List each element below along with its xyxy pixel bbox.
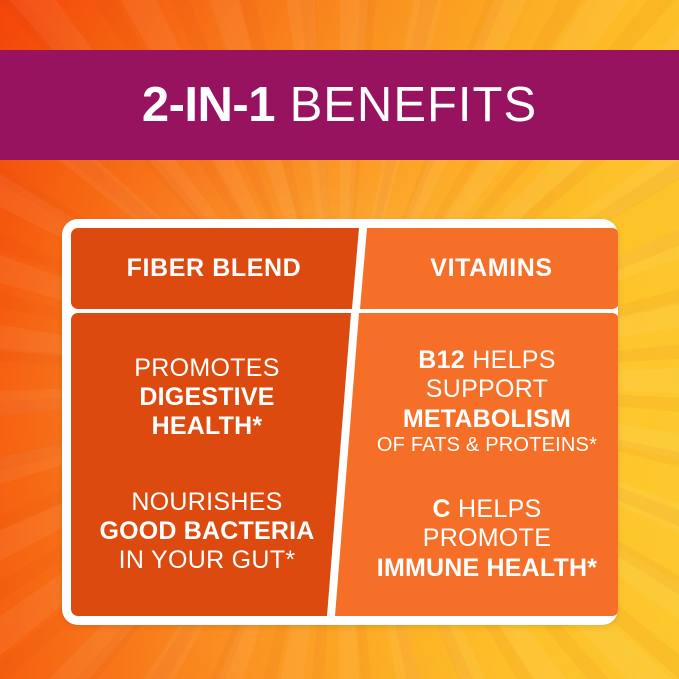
nutrient-name-b12: B12 xyxy=(418,346,465,374)
benefit-line: IN YOUR GUT* xyxy=(99,546,314,575)
benefit-line: IMMUNE HEALTH* xyxy=(377,554,597,583)
benefit-line: C HELPS xyxy=(377,495,597,524)
header-banner: 2-IN-1 BENEFITS xyxy=(0,50,679,160)
column-header-label-right: VITAMINS xyxy=(430,254,552,283)
benefit-line: B12 HELPS xyxy=(377,346,597,375)
benefit-item: PROMOTES DIGESTIVE HEALTH* xyxy=(134,354,279,442)
benefit-line: DIGESTIVE xyxy=(134,383,279,412)
benefit-line-rest: HELPS xyxy=(465,346,556,374)
nutrient-name-c: C xyxy=(432,495,450,523)
promo-graphic: 2-IN-1 BENEFITS FIBER BLEND VITAMINS PRO xyxy=(0,0,679,679)
benefit-line: NOURISHES xyxy=(99,488,314,517)
benefit-line: OF FATS & PROTEINS* xyxy=(377,434,597,457)
benefits-card: FIBER BLEND VITAMINS PROMOTES DIGESTIVE … xyxy=(62,219,618,625)
column-header-label-left: FIBER BLEND xyxy=(127,254,302,283)
benefit-line: GOOD BACTERIA xyxy=(99,517,314,546)
page-title-rest: BENEFITS xyxy=(275,78,537,132)
page-title-lead: 2-IN-1 xyxy=(142,78,275,132)
benefit-item: C HELPS PROMOTE IMMUNE HEALTH* xyxy=(377,495,597,583)
page-title: 2-IN-1 BENEFITS xyxy=(142,81,537,130)
benefit-line: METABOLISM xyxy=(377,405,597,434)
benefit-line: SUPPORT xyxy=(377,375,597,404)
benefit-line: PROMOTES xyxy=(134,354,279,383)
benefit-line: HEALTH* xyxy=(134,412,279,441)
benefit-item: NOURISHES GOOD BACTERIA IN YOUR GUT* xyxy=(99,488,314,576)
benefit-line: PROMOTE xyxy=(377,524,597,553)
benefit-line-rest: HELPS xyxy=(451,495,542,523)
benefit-item: B12 HELPS SUPPORT METABOLISM OF FATS & P… xyxy=(377,346,597,457)
